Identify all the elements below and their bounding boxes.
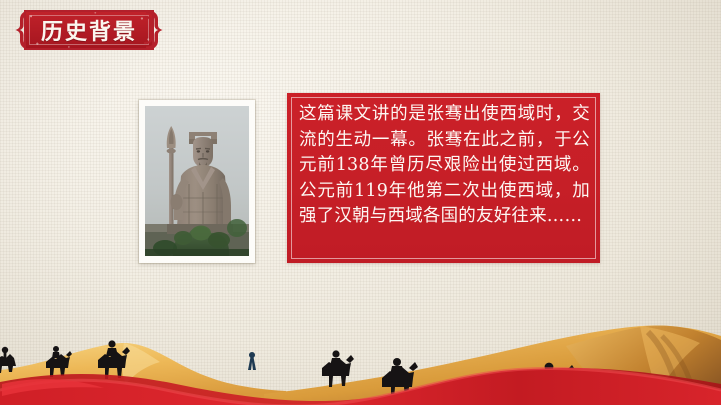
silk-road-desert-caravan — [0, 310, 721, 405]
seal-bracket-right-icon — [142, 8, 164, 52]
title-badge: 历史背景 — [14, 8, 164, 52]
zhang-qian-statue-photo — [139, 100, 255, 263]
panel-body-text: 这篇课文讲的是张骞出使西域时，交流的生动一幕。张骞在此之前，于公元前138年曾历… — [299, 102, 590, 255]
photo-image — [145, 106, 249, 256]
slide-canvas: 历史背景 — [0, 0, 721, 405]
text-panel: 这篇课文讲的是张骞出使西域时，交流的生动一幕。张骞在此之前，于公元前138年曾历… — [287, 93, 600, 263]
page-title: 历史背景 — [24, 10, 154, 50]
